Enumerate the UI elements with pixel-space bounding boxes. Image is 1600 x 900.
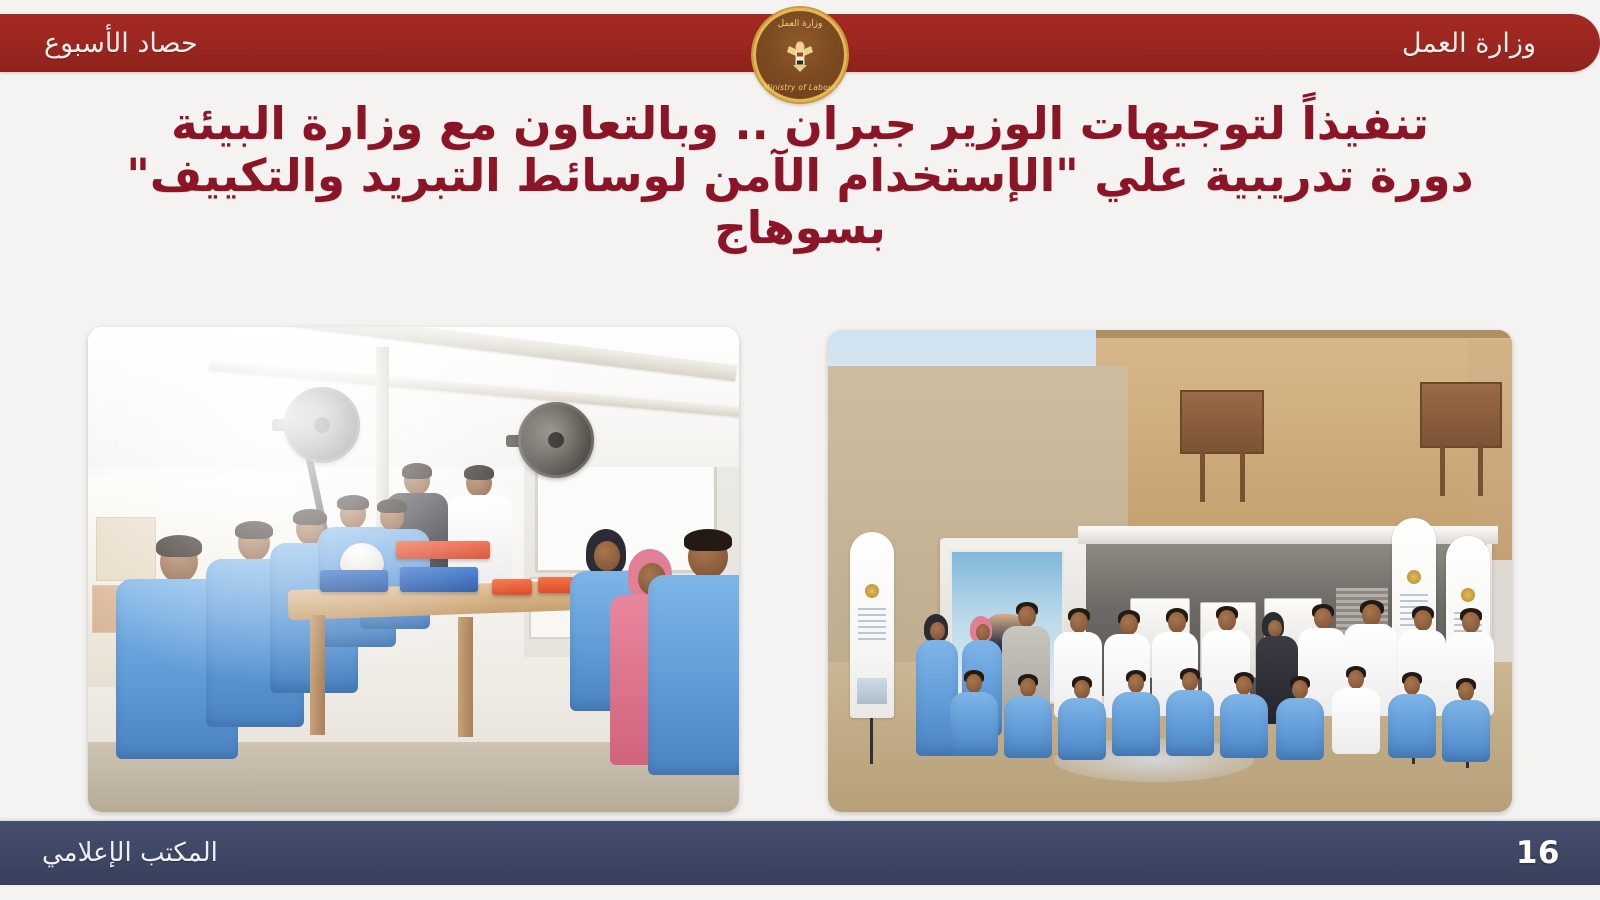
training-session-photo <box>88 327 739 812</box>
tool-tray-red <box>396 541 490 559</box>
tool-case-blue <box>400 567 478 592</box>
slide-title: تنفيذاً لتوجيهات الوزير جبران .. وبالتعا… <box>0 98 1600 255</box>
crouching-row <box>828 598 1512 748</box>
group-photo <box>828 330 1512 812</box>
emblem-bottom-text: Ministry of Labour <box>756 83 844 92</box>
group-photo-scene <box>828 330 1512 812</box>
footer-bar <box>0 821 1600 885</box>
header-weekly-label: حصاد الأسبوع <box>44 14 198 72</box>
footer-office-label: المكتب الإعلامي <box>42 821 218 885</box>
slide-root: حصاد الأسبوع وزارة العمل وزارة العمل Min… <box>0 0 1600 900</box>
ministry-of-labour-seal-icon: وزارة العمل Ministry of Labour <box>753 8 847 102</box>
page-number: 16 <box>1516 821 1560 885</box>
tool-case-orange <box>492 579 532 595</box>
title-line-1: تنفيذاً لتوجيهات الوزير جبران .. وبالتعا… <box>0 98 1600 150</box>
training-session-scene <box>88 327 739 812</box>
wall-fan-icon <box>284 387 360 463</box>
eagle-emblem-icon <box>780 38 820 74</box>
header-ministry-label: وزارة العمل <box>1402 14 1536 72</box>
tool-case-blue <box>320 570 388 592</box>
title-line-2: دورة تدريبية علي "الإستخدام الآمن لوسائط… <box>0 150 1600 202</box>
title-line-3: بسوهاج <box>0 202 1600 254</box>
emblem-top-text: وزارة العمل <box>756 19 844 29</box>
emblem-inner: وزارة العمل Ministry of Labour <box>756 11 844 99</box>
wall-fan-icon <box>518 402 594 478</box>
